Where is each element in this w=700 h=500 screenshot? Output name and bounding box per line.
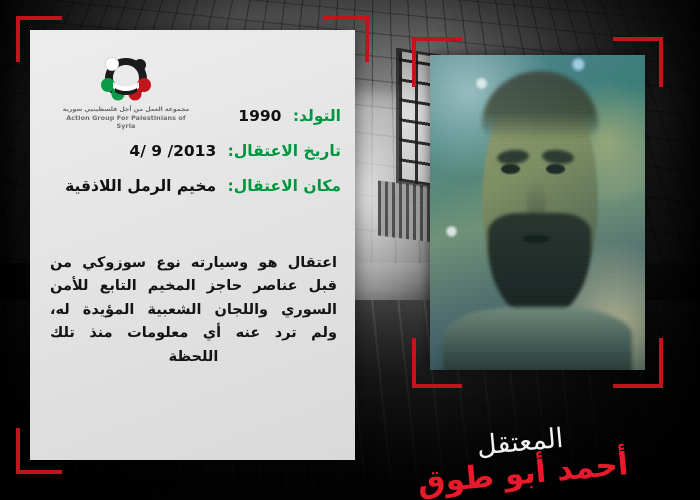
detainee-photo [430, 55, 645, 370]
detainee-photo-frame [430, 55, 645, 370]
field-value-arrest-date: 2013/ 9 /4 [129, 142, 216, 160]
field-label-arrest-place: مكان الاعتقال: [228, 177, 341, 195]
case-description-text: اعتقال هو وسيارته نوع سوزوكي من قبل عناص… [50, 252, 337, 369]
detainee-poster: مجموعة العمل من أجل فلسطينيي سورية Actio… [0, 0, 700, 500]
field-row-arrest-place: مكان الاعتقال: مخيم الرمل اللاذقية [44, 178, 341, 195]
info-card: مجموعة العمل من أجل فلسطينيي سورية Actio… [30, 30, 355, 460]
field-label-birth-year: التولد: [293, 107, 341, 125]
detainee-fields: التولد: 1990 تاريخ الاعتقال: 2013/ 9 /4 … [44, 108, 341, 213]
logo-mark-icon [91, 52, 161, 104]
field-label-arrest-date: تاريخ الاعتقال: [228, 142, 341, 160]
field-value-birth-year: 1990 [238, 107, 281, 125]
field-row-birth-year: التولد: 1990 [44, 108, 341, 125]
photo-sheen-overlay [430, 55, 645, 370]
field-value-arrest-place: مخيم الرمل اللاذقية [65, 177, 216, 195]
field-row-arrest-date: تاريخ الاعتقال: 2013/ 9 /4 [44, 143, 341, 160]
